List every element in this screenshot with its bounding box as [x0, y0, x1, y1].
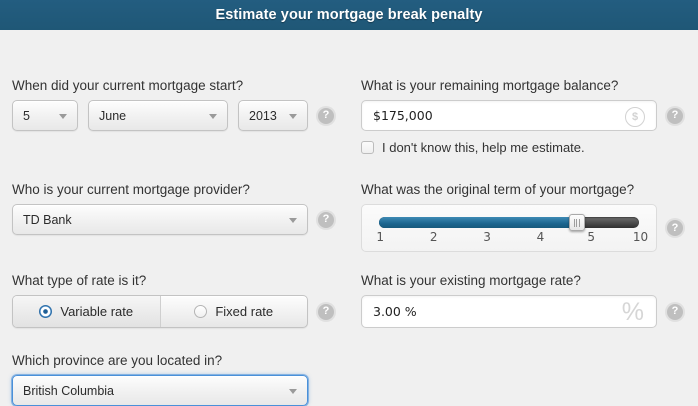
start-day-value: 5	[23, 109, 30, 123]
start-year-select[interactable]: 2013	[238, 100, 308, 131]
chevron-down-icon	[289, 389, 297, 394]
mortgage-start-date-controls: 5 June 2013 ?	[12, 100, 334, 131]
estimate-balance-checkbox-label: I don't know this, help me estimate.	[382, 140, 585, 155]
existing-rate-input[interactable]: 3.00 % %	[361, 295, 657, 328]
existing-rate-value: 3.00 %	[373, 304, 417, 319]
radio-option-variable-rate[interactable]: Variable rate	[13, 296, 161, 327]
radio-fixed-rate-icon	[194, 305, 207, 318]
field-rate-type: What type of rate is it? Variable rate F…	[12, 273, 334, 328]
help-icon-start-date[interactable]: ?	[318, 108, 334, 124]
estimate-balance-checkbox-row[interactable]: I don't know this, help me estimate.	[361, 140, 683, 155]
help-icon-rate-type[interactable]: ?	[318, 304, 334, 320]
label-mortgage-provider: Who is your current mortgage provider?	[12, 182, 334, 197]
grip-line	[579, 219, 580, 227]
page-title: Estimate your mortgage break penalty	[215, 7, 482, 23]
chevron-down-icon	[289, 218, 297, 223]
province-select[interactable]: British Columbia	[12, 375, 308, 406]
estimate-balance-checkbox[interactable]	[361, 141, 374, 154]
chevron-down-icon	[209, 114, 217, 119]
radio-fixed-rate-label: Fixed rate	[215, 304, 273, 319]
original-term-slider[interactable]: 1 2 3 4 5 10	[361, 204, 657, 252]
mortgage-balance-controls: $175,000 $ ?	[361, 100, 683, 131]
slider-tick-1: 1	[376, 230, 384, 244]
label-rate-type: What type of rate is it?	[12, 273, 334, 288]
province-controls: British Columbia	[12, 375, 308, 406]
slider-tick-labels: 1 2 3 4 5 10	[372, 230, 646, 246]
help-icon-original-term[interactable]: ?	[667, 220, 683, 236]
grip-line	[576, 219, 577, 227]
start-day-select[interactable]: 5	[12, 100, 78, 131]
mortgage-provider-value: TD Bank	[23, 213, 72, 227]
field-original-term: What was the original term of your mortg…	[361, 182, 683, 252]
question-mark-glyph: ?	[323, 110, 330, 121]
field-province: Which province are you located in? Briti…	[12, 353, 308, 406]
question-mark-glyph: ?	[323, 214, 330, 225]
rate-type-controls: Variable rate Fixed rate ?	[12, 295, 334, 328]
radio-option-fixed-rate[interactable]: Fixed rate	[161, 296, 308, 327]
label-existing-rate: What is your existing mortgage rate?	[361, 273, 683, 288]
mortgage-provider-controls: TD Bank ?	[12, 204, 334, 235]
slider-tick-3: 3	[483, 230, 491, 244]
label-mortgage-start-date: When did your current mortgage start?	[12, 78, 334, 93]
question-mark-glyph: ?	[672, 110, 679, 121]
field-mortgage-start-date: When did your current mortgage start? 5 …	[12, 78, 334, 131]
question-mark-glyph: ?	[672, 306, 679, 317]
field-existing-rate: What is your existing mortgage rate? 3.0…	[361, 273, 683, 328]
radio-variable-rate-icon	[39, 305, 52, 318]
right-column: What is your remaining mortgage balance?…	[349, 30, 698, 405]
mortgage-balance-input[interactable]: $175,000 $	[361, 100, 657, 131]
mortgage-penalty-form: When did your current mortgage start? 5 …	[0, 30, 698, 405]
slider-track-fill	[379, 217, 577, 228]
slider-tick-5: 5	[587, 230, 595, 244]
slider-tick-10: 10	[633, 230, 648, 244]
left-column: When did your current mortgage start? 5 …	[0, 30, 349, 405]
help-icon-provider[interactable]: ?	[318, 212, 334, 228]
slider-track[interactable]	[379, 217, 639, 228]
help-icon-balance[interactable]: ?	[667, 108, 683, 124]
mortgage-provider-select[interactable]: TD Bank	[12, 204, 308, 235]
slider-handle[interactable]	[569, 214, 585, 231]
grip-line	[574, 219, 575, 227]
chevron-down-icon	[59, 114, 67, 119]
label-province: Which province are you located in?	[12, 353, 308, 368]
field-mortgage-provider: Who is your current mortgage provider? T…	[12, 182, 334, 235]
label-original-term: What was the original term of your mortg…	[361, 182, 683, 197]
slider-tick-4: 4	[537, 230, 545, 244]
existing-rate-controls: 3.00 % % ?	[361, 295, 683, 328]
question-mark-glyph: ?	[672, 223, 679, 234]
mortgage-balance-value: $175,000	[373, 108, 433, 123]
question-mark-glyph: ?	[323, 306, 330, 317]
chevron-down-icon	[289, 114, 297, 119]
start-year-value: 2013	[249, 109, 277, 123]
start-month-value: June	[99, 109, 126, 123]
title-bar: Estimate your mortgage break penalty	[0, 0, 698, 30]
field-mortgage-balance: What is your remaining mortgage balance?…	[361, 78, 683, 155]
help-icon-existing-rate[interactable]: ?	[667, 304, 683, 320]
label-mortgage-balance: What is your remaining mortgage balance?	[361, 78, 683, 93]
percent-icon: %	[622, 298, 644, 326]
radio-variable-rate-label: Variable rate	[60, 304, 133, 319]
slider-tick-2: 2	[430, 230, 438, 244]
rate-type-segmented-control: Variable rate Fixed rate	[12, 295, 308, 328]
start-month-select[interactable]: June	[88, 100, 228, 131]
dollar-coin-icon: $	[625, 107, 645, 127]
original-term-controls: 1 2 3 4 5 10 ?	[361, 204, 683, 252]
province-value: British Columbia	[23, 384, 114, 398]
